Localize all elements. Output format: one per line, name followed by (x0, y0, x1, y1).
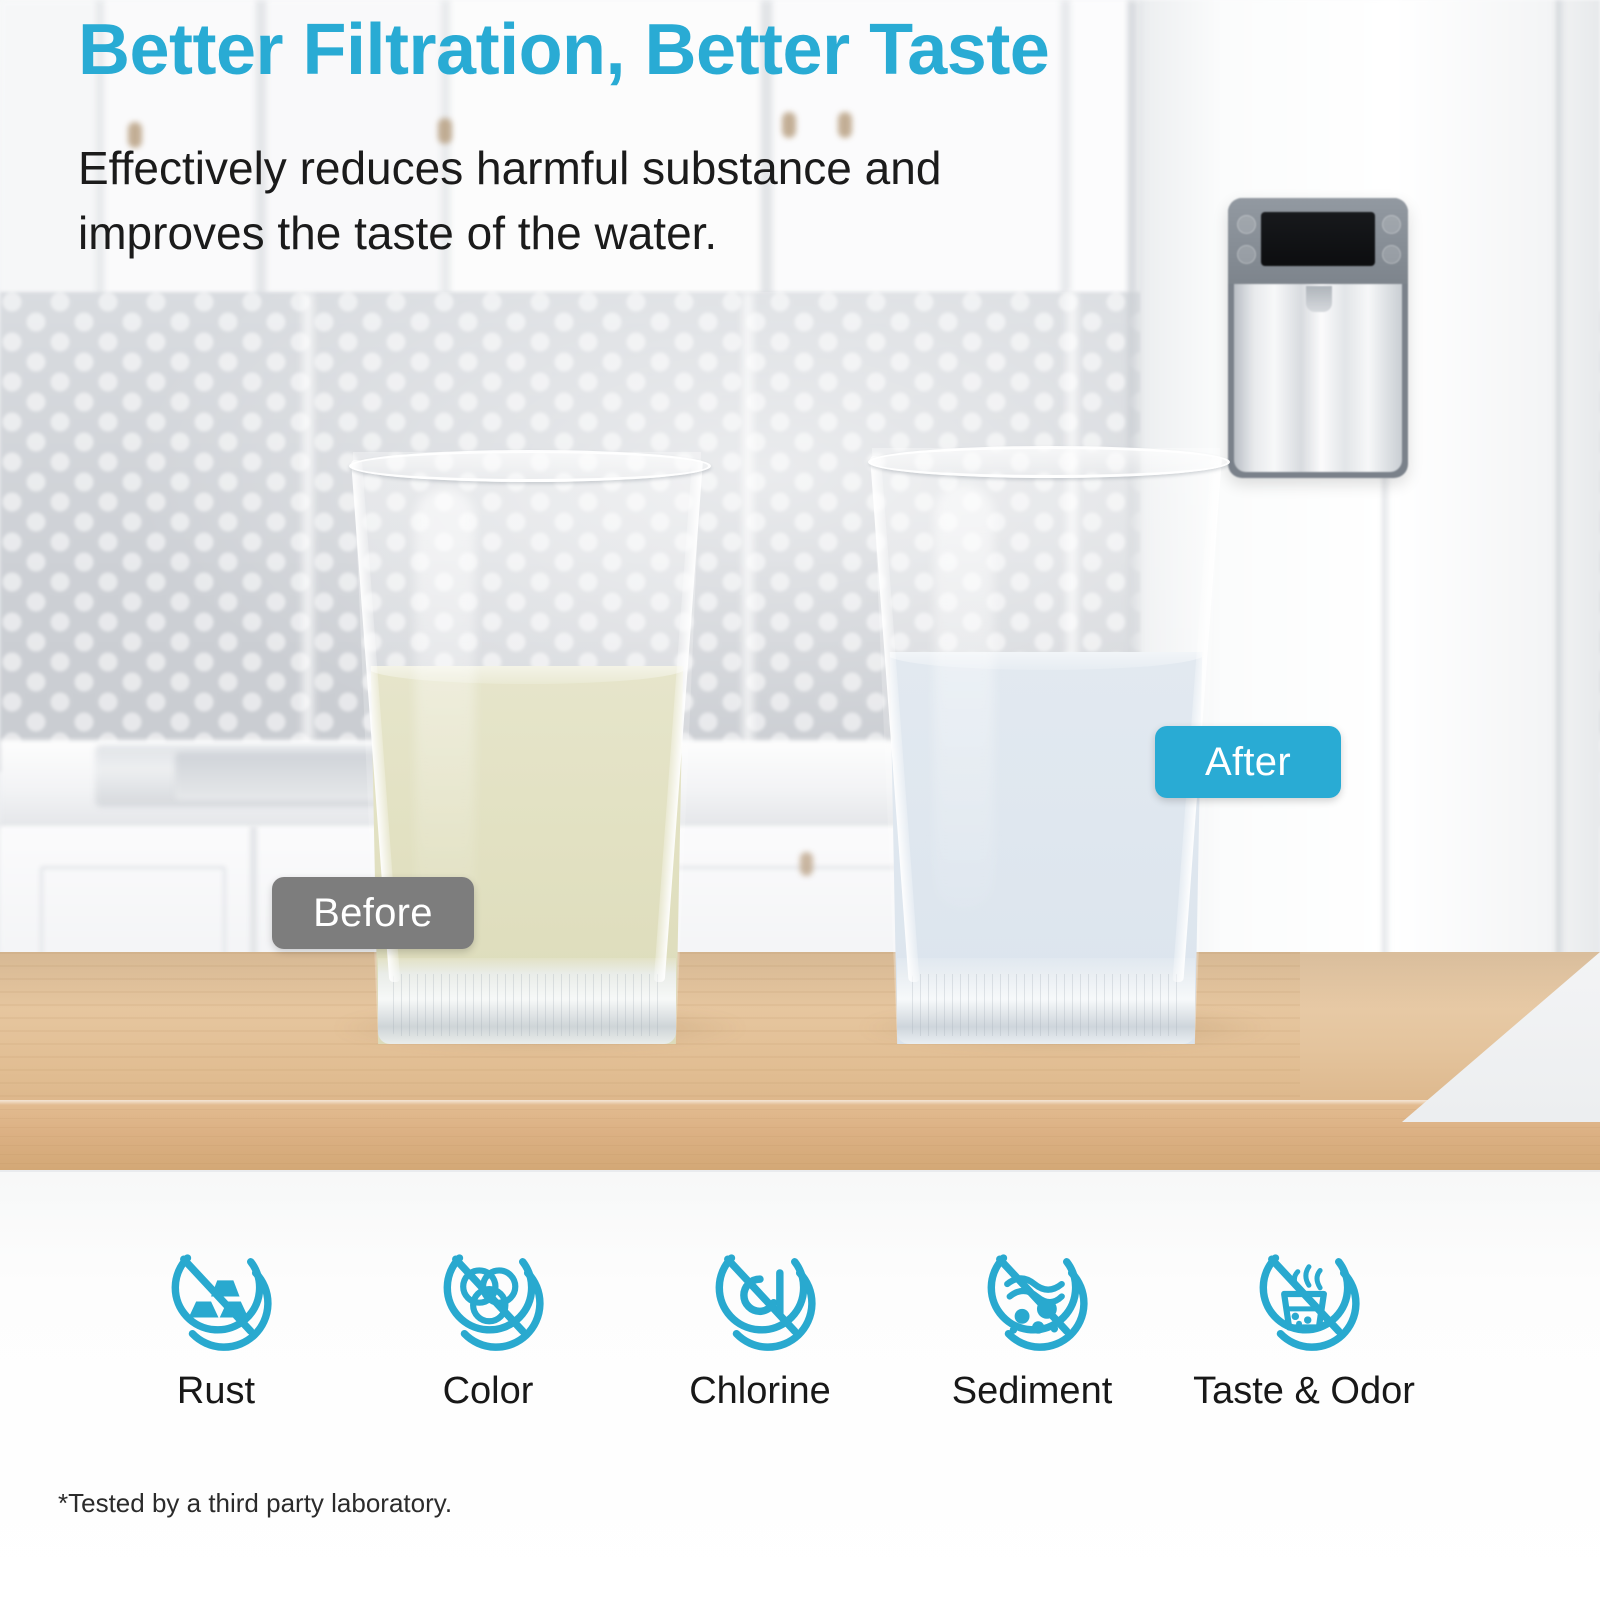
dispenser-button-icon[interactable] (1237, 245, 1256, 264)
dispenser-button-icon[interactable] (1382, 215, 1401, 234)
subheadline-line-1: Effectively reduces harmful substance an… (78, 136, 941, 201)
water-dispenser[interactable] (1228, 198, 1408, 478)
after-glass-base-ribs (912, 974, 1180, 1036)
refrigerator-door-seam (1556, 0, 1566, 1010)
cabinet-knob-icon (838, 112, 852, 138)
kitchen-photo-scene: After Before Better Filtration, Better T… (0, 0, 1600, 1172)
before-glass-base-ribs (393, 974, 661, 1036)
refrigerator-door-gap (1382, 430, 1391, 1010)
no-rust-icon (154, 1232, 278, 1356)
dispenser-button-icon[interactable] (1382, 245, 1401, 264)
dispenser-button-icon[interactable] (1237, 215, 1256, 234)
backsplash-seam (740, 292, 756, 772)
footnote-text: *Tested by a third party laboratory. (58, 1488, 452, 1519)
cabinet-knob-icon (800, 852, 813, 876)
dispenser-display-screen (1261, 212, 1375, 266)
dispenser-recess (1234, 284, 1402, 472)
feature-label: Taste & Odor (1193, 1370, 1415, 1413)
countertop-shadow (0, 952, 1600, 1010)
feature-label: Sediment (952, 1370, 1113, 1413)
subheadline-line-2: improves the taste of the water. (78, 201, 941, 266)
after-glass-highlight (934, 484, 994, 913)
feature-label: Color (443, 1370, 534, 1413)
product-feature-page: After Before Better Filtration, Better T… (0, 0, 1600, 1600)
dispenser-nozzle-icon (1306, 286, 1332, 312)
no-sediment-icon (970, 1232, 1094, 1356)
before-glass-rim (349, 450, 711, 482)
before-glass (341, 452, 713, 1044)
before-badge: Before (272, 877, 474, 949)
wood-countertop-edge (0, 1100, 1600, 1170)
feature-item-taste-odor: Taste & Odor (1168, 1232, 1440, 1413)
feature-strip: Rust Color (0, 1172, 1600, 1600)
feature-item-rust: Rust (80, 1232, 352, 1413)
feature-item-color: Color (352, 1232, 624, 1413)
page-headline: Better Filtration, Better Taste (78, 14, 1049, 86)
feature-item-sediment: Sediment (896, 1232, 1168, 1413)
feature-label: Chlorine (689, 1370, 831, 1413)
no-chlorine-icon (698, 1232, 822, 1356)
feature-icon-row: Rust Color (80, 1232, 1520, 1413)
cabinet-knob-icon (782, 112, 796, 138)
backsplash-seam (300, 292, 316, 772)
no-color-icon (426, 1232, 550, 1356)
after-glass-rim (868, 446, 1230, 478)
after-badge: After (1155, 726, 1341, 798)
before-glass-highlight (415, 488, 475, 914)
feature-item-chlorine: Chlorine (624, 1232, 896, 1413)
no-taste-odor-icon (1242, 1232, 1366, 1356)
page-subheadline: Effectively reduces harmful substance an… (78, 136, 941, 267)
wood-edge-highlight (0, 1100, 1600, 1105)
feature-label: Rust (177, 1370, 255, 1413)
